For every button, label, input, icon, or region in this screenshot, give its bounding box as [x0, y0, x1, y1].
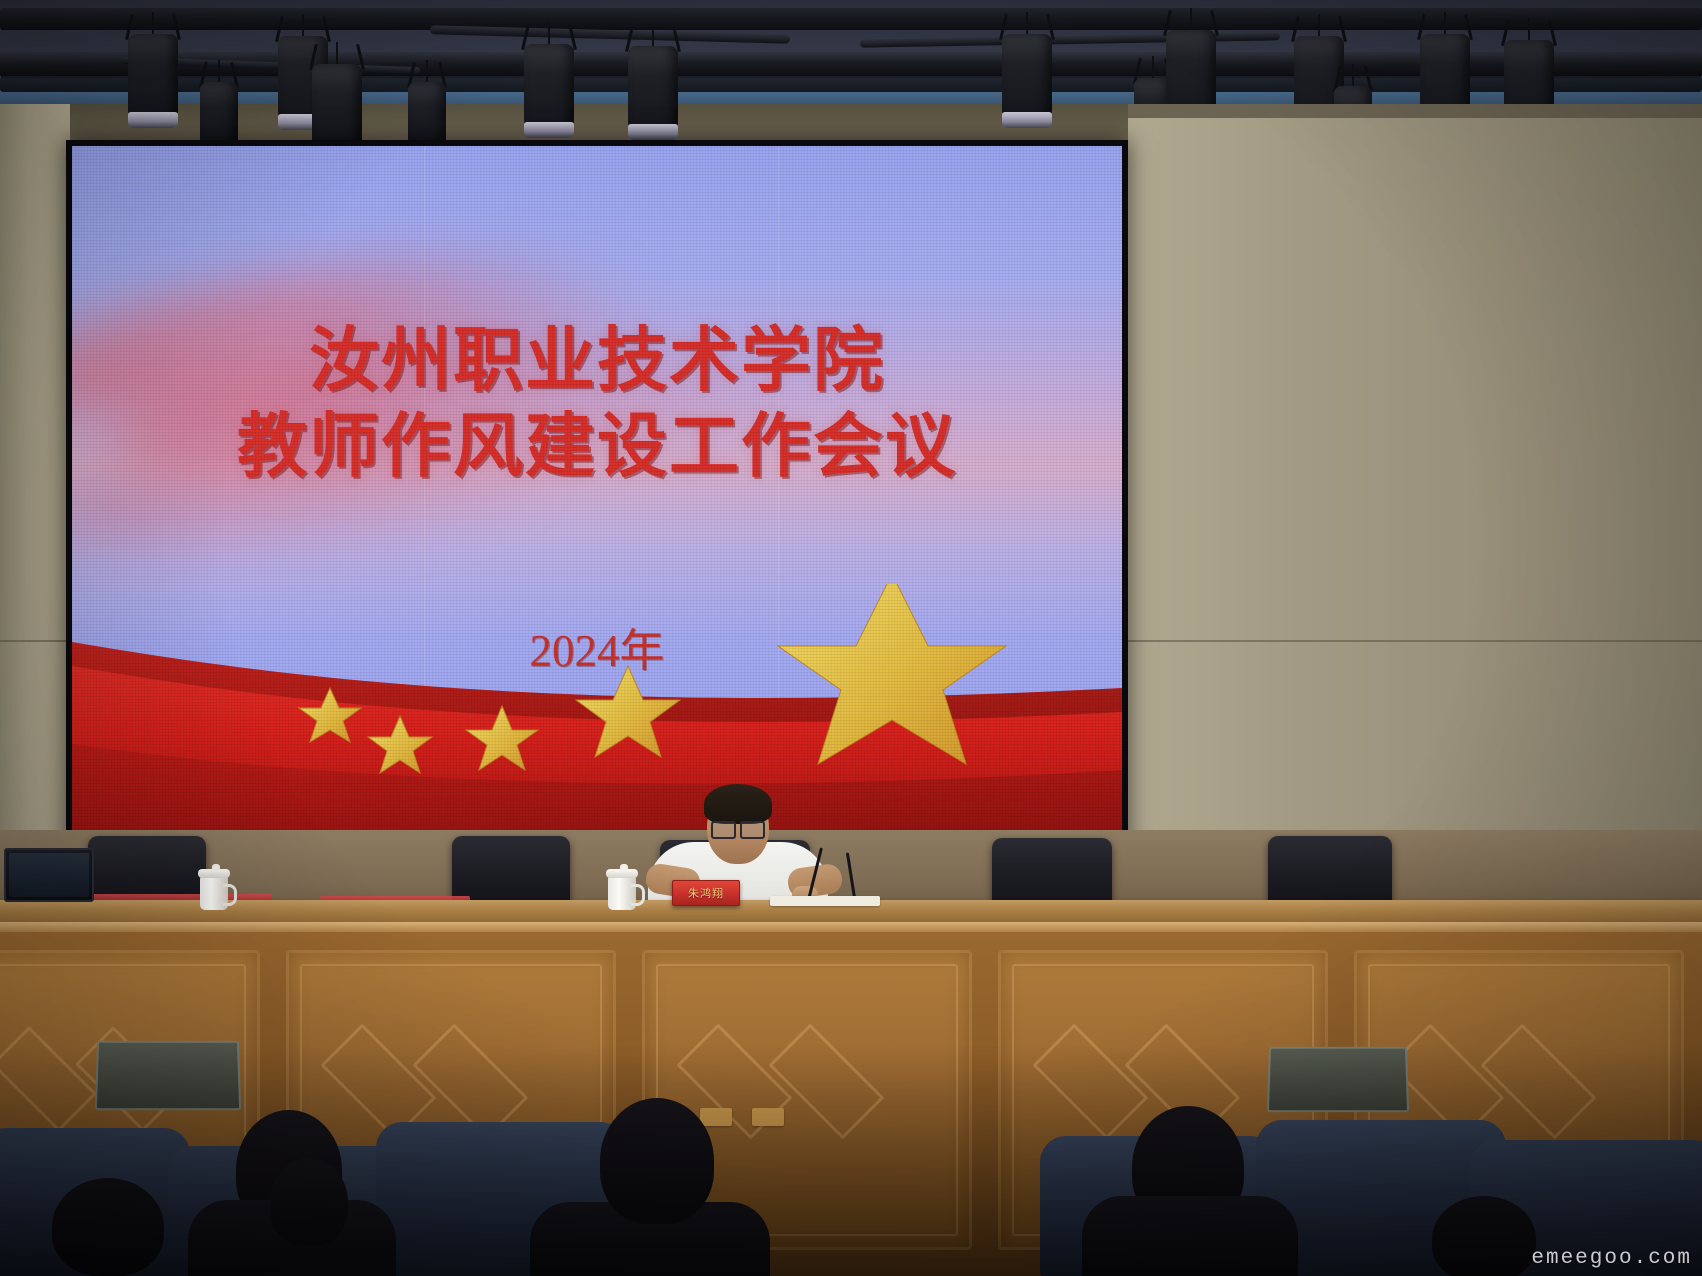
slide-title: 汝州职业技术学院 教师作风建设工作会议: [72, 321, 1122, 486]
speaker-hair: [704, 784, 772, 824]
laptop: [1267, 1047, 1409, 1112]
nameplate: 朱鸿翔: [672, 880, 740, 906]
led-screen-surface: 汝州职业技术学院 教师作风建设工作会议 2024年: [72, 146, 1122, 844]
audience-shoulders: [1082, 1196, 1298, 1276]
left-wall: [0, 104, 70, 904]
glasses-icon: [711, 821, 765, 835]
slide-year: 2024年: [72, 614, 1122, 679]
audience-head: [1432, 1196, 1536, 1276]
slide-title-line-2: 教师作风建设工作会议: [72, 407, 1122, 485]
teacup: [200, 876, 228, 910]
outlet-plate: [700, 1108, 732, 1126]
teacup: [608, 876, 636, 910]
nameplate-label: 朱鸿翔: [688, 885, 724, 901]
conference-photo: 汝州职业技术学院 教师作风建设工作会议 2024年 朱鸿翔: [0, 0, 1702, 1276]
led-screen: 汝州职业技术学院 教师作风建设工作会议 2024年: [66, 140, 1128, 850]
wall-seam: [1128, 640, 1702, 642]
right-wall-trim: [1128, 104, 1702, 118]
right-wall: [1128, 104, 1702, 904]
slide-title-line-1: 汝州职业技术学院: [72, 321, 1122, 399]
audience-head: [600, 1098, 714, 1224]
audience-head: [270, 1158, 348, 1246]
chair: [1268, 836, 1392, 910]
laptop: [95, 1041, 241, 1110]
lighting-truss-upper: [0, 8, 1702, 30]
audience-head: [52, 1178, 164, 1276]
monitor: [4, 848, 94, 902]
documents: [770, 896, 880, 906]
watermark: emeegoo.com: [1531, 1247, 1692, 1270]
wall-seam: [0, 640, 70, 642]
outlet-plate: [752, 1108, 784, 1126]
